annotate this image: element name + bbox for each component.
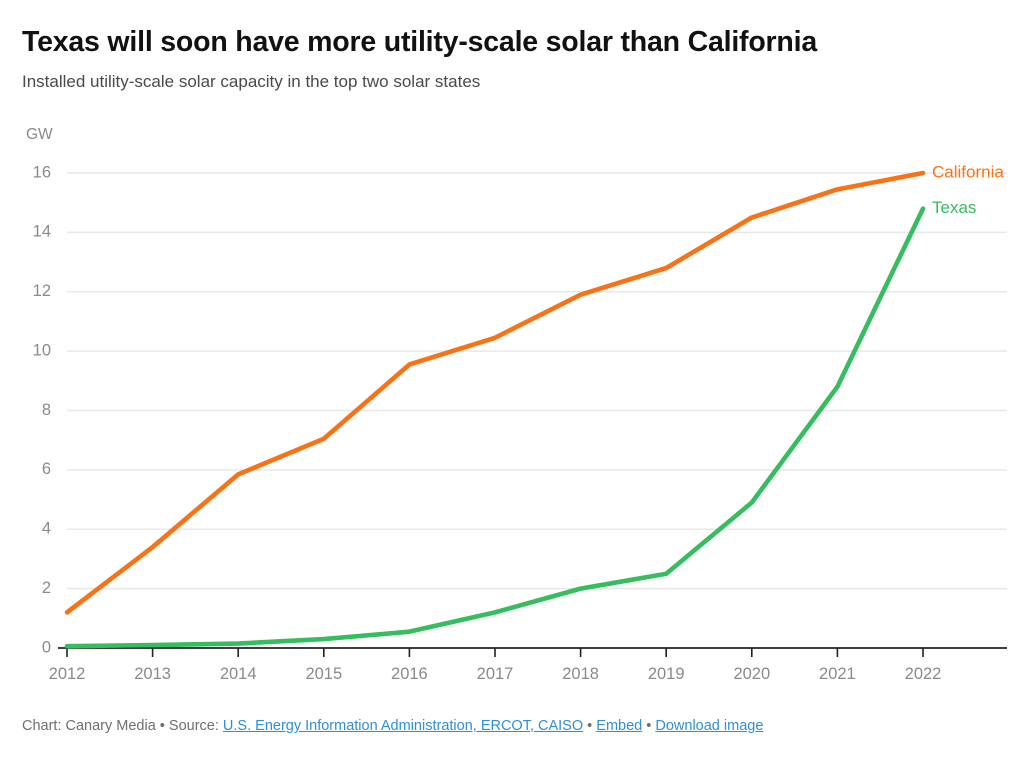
- y-axis-tick-label: 16: [33, 163, 51, 181]
- x-axis-tick-label: 2021: [819, 665, 856, 683]
- x-axis-tick-label: 2012: [49, 665, 86, 683]
- y-axis-tick-label: 10: [33, 341, 51, 359]
- page-title: Texas will soon have more utility-scale …: [22, 26, 1002, 59]
- x-axis-tick-label: 2018: [562, 665, 599, 683]
- y-axis-tick-label: 14: [33, 223, 51, 241]
- x-axis-tick-label: 2013: [134, 665, 171, 683]
- line-chart: 0246810121416201220132014201520162017201…: [0, 126, 1027, 696]
- y-axis-tick-label: 12: [33, 282, 51, 300]
- series-label-california: California: [932, 162, 1004, 181]
- x-axis-tick-label: 2017: [477, 665, 514, 683]
- y-axis-tick-label: 0: [42, 638, 51, 656]
- chart-subtitle: Installed utility-scale solar capacity i…: [22, 72, 1002, 92]
- download-image-link[interactable]: Download image: [655, 718, 763, 734]
- x-axis-tick-label: 2016: [391, 665, 428, 683]
- series-line-california[interactable]: [67, 173, 923, 612]
- y-axis-tick-label: 2: [42, 579, 51, 597]
- footer-credit: Chart: Canary Media: [22, 718, 156, 734]
- x-axis-tick-label: 2019: [648, 665, 685, 683]
- x-axis-tick-label: 2020: [733, 665, 770, 683]
- embed-link[interactable]: Embed: [596, 718, 642, 734]
- footer-separator-2: •: [583, 718, 596, 734]
- y-axis-tick-label: 6: [42, 460, 51, 478]
- y-axis-tick-label: 8: [42, 401, 51, 419]
- x-axis-tick-label: 2022: [905, 665, 942, 683]
- footer-separator-3: •: [642, 718, 655, 734]
- y-axis-tick-label: 4: [42, 520, 51, 538]
- series-line-texas[interactable]: [67, 209, 923, 647]
- footer-separator-1: •: [156, 718, 169, 734]
- footer-source-label: Source:: [169, 718, 223, 734]
- source-link[interactable]: U.S. Energy Information Administration, …: [223, 718, 583, 734]
- chart-plot-area: GW 0246810121416201220132014201520162017…: [0, 126, 1027, 696]
- chart-footer: Chart: Canary Media • Source: U.S. Energ…: [22, 718, 763, 734]
- x-axis-tick-label: 2014: [220, 665, 257, 683]
- series-label-texas: Texas: [932, 198, 976, 217]
- chart-header: Texas will soon have more utility-scale …: [22, 26, 1002, 92]
- x-axis-tick-label: 2015: [305, 665, 342, 683]
- chart-page: Texas will soon have more utility-scale …: [0, 0, 1027, 761]
